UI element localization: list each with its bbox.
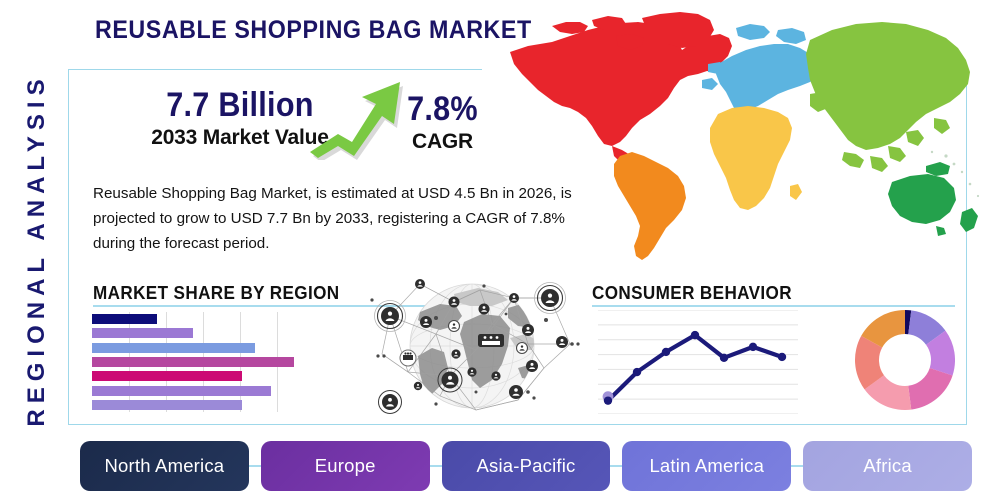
line-chart-marker [778, 353, 786, 361]
page-title: REUSABLE SHOPPING BAG MARKET [95, 16, 532, 45]
line-chart-marker [720, 354, 728, 362]
map-region-north-america [510, 12, 732, 170]
tab-connector [610, 465, 622, 467]
bar-fill [92, 400, 242, 410]
region-tab-label: North America [104, 455, 224, 477]
bar-fill [92, 343, 255, 353]
donut-segment [908, 368, 952, 410]
vertical-section-label: REGIONAL ANALYSIS [17, 50, 57, 450]
line-chart-marker [749, 343, 757, 351]
key-stats-row: 7.7 Billion 2033 Market Value 7.8% CAGR [95, 85, 500, 165]
bar-fill [92, 371, 242, 381]
region-tab-africa[interactable]: Africa [803, 441, 972, 491]
region-tab-label: Europe [315, 455, 376, 477]
bar-fill [92, 386, 271, 396]
line-chart-marker [633, 368, 641, 376]
growth-arrow-icon [308, 80, 413, 160]
bar-fill [92, 357, 294, 367]
tab-connector [249, 465, 261, 467]
region-tab-asia-pacific[interactable]: Asia-Pacific [442, 441, 611, 491]
consumer-behavior-line-chart [598, 310, 798, 414]
bar-chart-bar [92, 343, 255, 353]
line-chart-marker [662, 348, 670, 356]
bar-chart-bar [92, 400, 242, 410]
region-tab-north-america[interactable]: North America [80, 441, 249, 491]
section-rule-consumer-behavior [592, 305, 955, 307]
region-tab-europe[interactable]: Europe [261, 441, 430, 491]
bar-chart-bar [92, 328, 193, 338]
bar-chart-bar [92, 314, 157, 324]
bar-chart-bar [92, 357, 294, 367]
line-chart-marker [604, 396, 612, 404]
tab-connector [791, 465, 803, 467]
global-network-globe-icon [358, 276, 586, 418]
tab-connector [430, 465, 442, 467]
section-heading-market-share: MARKET SHARE BY REGION [93, 283, 340, 304]
map-region-oceania [888, 162, 978, 236]
map-region-africa [710, 106, 802, 210]
market-share-bar-chart [92, 312, 314, 412]
market-description: Reusable Shopping Bag Market, is estimat… [93, 181, 573, 256]
bar-fill [92, 314, 157, 324]
bar-chart-bar [92, 386, 271, 396]
line-chart-svg [598, 310, 798, 414]
consumer-behavior-donut-chart [855, 310, 955, 410]
region-tab-label: Africa [863, 455, 912, 477]
region-tab-label: Asia-Pacific [476, 455, 575, 477]
region-tab-label: Latin America [649, 455, 764, 477]
bar-chart-bar [92, 371, 242, 381]
map-region-south-america [614, 152, 686, 260]
region-tab-latin-america[interactable]: Latin America [622, 441, 791, 491]
map-region-asia [806, 22, 970, 172]
bar-fill [92, 328, 193, 338]
line-chart-marker [691, 331, 699, 339]
infographic-root: REGIONAL ANALYSIS REUSABLE SHOPPING BAG … [0, 0, 1000, 500]
section-heading-consumer-behavior: CONSUMER BEHAVIOR [592, 283, 792, 304]
donut-chart-svg [855, 310, 955, 410]
region-tab-bar: North AmericaEuropeAsia-PacificLatin Ame… [80, 440, 972, 492]
